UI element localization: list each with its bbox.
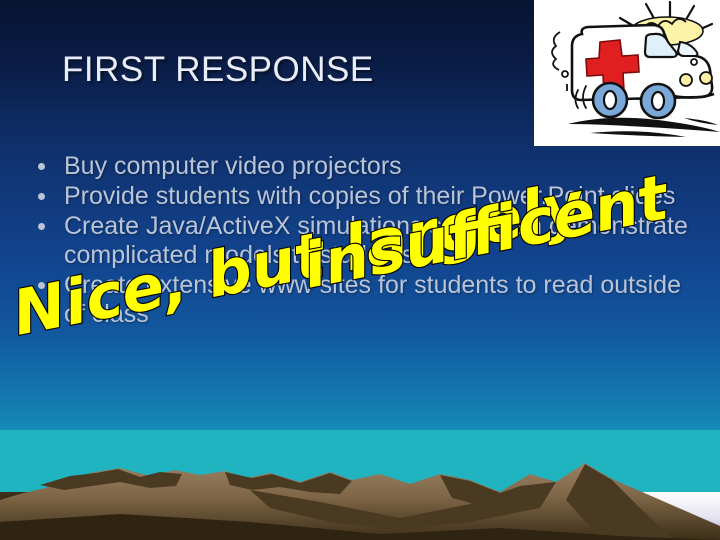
slide-bullet-list: Buy computer video projectors Provide st… <box>30 152 690 330</box>
headlight-icon <box>700 72 712 84</box>
bullet-item: Buy computer video projectors <box>30 152 690 181</box>
side-window <box>678 42 697 56</box>
bullet-text: Create extensive www sites for students … <box>64 271 681 328</box>
bullet-marker-icon <box>38 163 45 170</box>
bullet-text: Provide students with copies of their Po… <box>64 182 675 210</box>
bullet-marker-icon <box>38 223 45 230</box>
slide-title: FIRST RESPONSE <box>62 50 374 90</box>
wheel <box>593 83 627 117</box>
bullet-marker-icon <box>38 282 45 289</box>
exhaust-puff-icon <box>552 32 568 91</box>
bullet-item: Create Java/ActiveX simulations so we ca… <box>30 212 690 270</box>
bullet-item: Provide students with copies of their Po… <box>30 182 690 211</box>
headlight-icon <box>680 74 692 86</box>
bullet-text: Create Java/ActiveX simulations so we ca… <box>64 212 688 269</box>
ambulance-clipart <box>534 0 720 146</box>
presentation-slide: FIRST RESPONSE Buy computer video projec… <box>0 0 720 540</box>
mountain-landscape-graphic <box>0 430 720 540</box>
ground-streaks-icon <box>568 118 720 137</box>
bullet-marker-icon <box>38 193 45 200</box>
wheel <box>641 84 675 118</box>
bullet-text: Buy computer video projectors <box>64 152 402 180</box>
bullet-item: Create extensive www sites for students … <box>30 271 690 329</box>
